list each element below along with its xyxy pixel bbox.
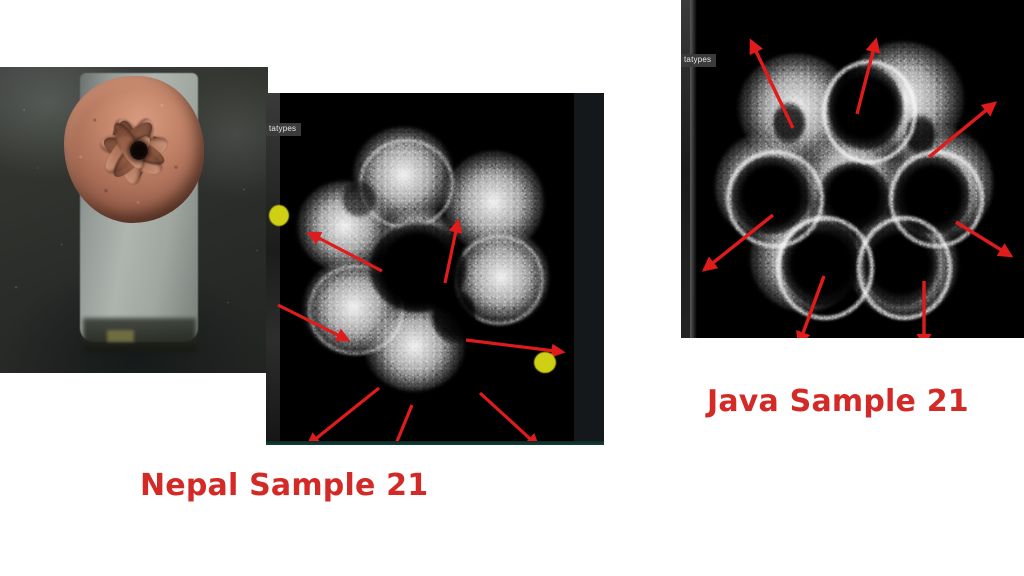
scan-tooltip-label: tatypes bbox=[266, 123, 301, 136]
scan-app-left-rail bbox=[266, 93, 280, 445]
ct-chamber-wall bbox=[359, 139, 455, 229]
ct-cavity bbox=[342, 181, 376, 217]
slide-canvas: tatypes bbox=[0, 0, 1024, 576]
bead-center-hole bbox=[130, 141, 148, 160]
scan-tooltip-label: tatypes bbox=[681, 54, 716, 67]
rudraksha-bead bbox=[64, 76, 203, 223]
nepal-sample-caption: Nepal Sample 21 bbox=[140, 468, 428, 503]
scan-app-rail-texture bbox=[690, 0, 697, 338]
scan-app-status-bar bbox=[266, 441, 604, 445]
nepal-scan-panel: tatypes bbox=[266, 93, 604, 445]
scan-app-left-rail bbox=[681, 0, 690, 338]
measurement-marker-left[interactable] bbox=[269, 205, 289, 226]
java-ct-image bbox=[709, 30, 999, 330]
rudraksha-bead-photo bbox=[0, 67, 268, 373]
measurement-marker-right[interactable] bbox=[534, 352, 556, 373]
java-scan-panel: tatypes bbox=[681, 0, 1024, 338]
pedestal-foot bbox=[107, 330, 134, 342]
pedestal-shadow bbox=[83, 318, 196, 352]
java-sample-caption: Java Sample 21 bbox=[707, 384, 969, 419]
ct-notch-upper-left bbox=[773, 102, 805, 144]
ct-chamber-wall bbox=[822, 60, 917, 164]
ct-cavity bbox=[432, 289, 477, 343]
nepal-ct-image bbox=[286, 115, 566, 415]
scan-app-right-sidebar bbox=[574, 93, 604, 445]
ct-chamber-wall bbox=[857, 216, 952, 320]
